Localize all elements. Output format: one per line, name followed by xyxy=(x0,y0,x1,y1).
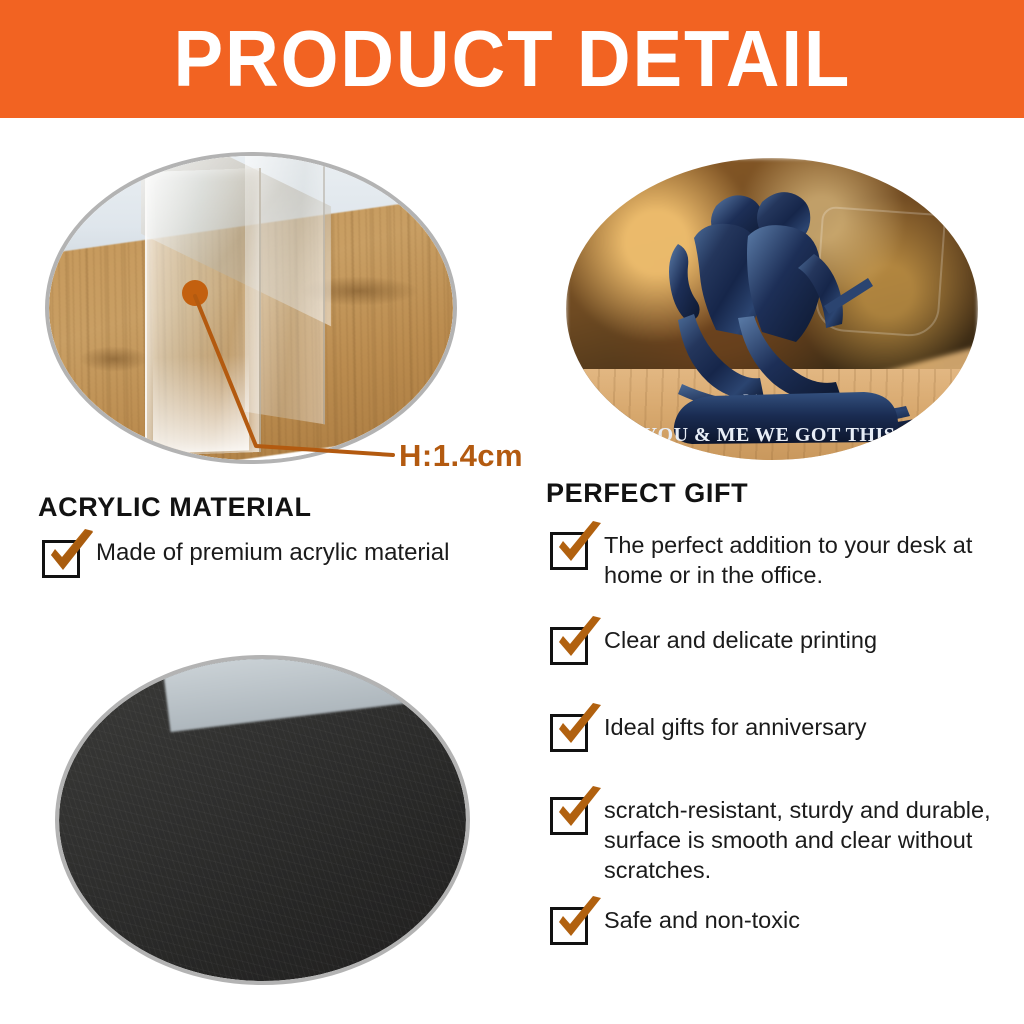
checkbox-checked-icon[interactable] xyxy=(550,797,588,835)
list-item-label: The perfect addition to your desk at hom… xyxy=(604,530,1000,590)
callout-dimension-label: H:1.4cm xyxy=(399,438,523,474)
list-item-label: Ideal gifts for anniversary xyxy=(604,712,867,742)
list-item: Safe and non-toxic xyxy=(550,905,1000,945)
list-item: scratch-resistant, sturdy and durable, s… xyxy=(550,795,1010,885)
checkbox-checked-icon[interactable] xyxy=(550,532,588,570)
photo-figurine-image: Brian Emma YOU & ME WE GOT THIS xyxy=(566,158,978,460)
product-detail-page: PRODUCT DETAIL H:1.4cm xyxy=(0,0,1024,1024)
list-item-label: Safe and non-toxic xyxy=(604,905,800,935)
list-item: Clear and delicate printing xyxy=(550,625,1000,665)
list-item: Made of premium acrylic material xyxy=(42,538,512,578)
checkbox-checked-icon[interactable] xyxy=(550,714,588,752)
photo-acrylic-block-image xyxy=(59,659,466,981)
list-item-label: scratch-resistant, sturdy and durable, s… xyxy=(604,795,1010,885)
section-heading-perfect-gift: PERFECT GIFT xyxy=(546,478,748,509)
skier-couple-figurine: Brian Emma YOU & ME WE GOT THIS xyxy=(566,158,978,460)
figure-front-skier xyxy=(738,192,873,402)
base-engraving-text: YOU & ME WE GOT THIS xyxy=(643,424,896,446)
list-item-label: Clear and delicate printing xyxy=(604,625,877,655)
list-item-label: Made of premium acrylic material xyxy=(96,538,449,568)
photo-acrylic-block xyxy=(55,655,470,985)
section-heading-acrylic-material: ACRYLIC MATERIAL xyxy=(38,492,312,523)
checkbox-checked-icon[interactable] xyxy=(42,540,80,578)
photo-figurine: Brian Emma YOU & ME WE GOT THIS xyxy=(566,158,978,460)
list-item: Ideal gifts for anniversary xyxy=(550,712,1000,752)
checkbox-checked-icon[interactable] xyxy=(550,907,588,945)
checkbox-checked-icon[interactable] xyxy=(550,627,588,665)
list-item: The perfect addition to your desk at hom… xyxy=(550,530,1000,590)
figure-rear-skier xyxy=(669,195,764,399)
